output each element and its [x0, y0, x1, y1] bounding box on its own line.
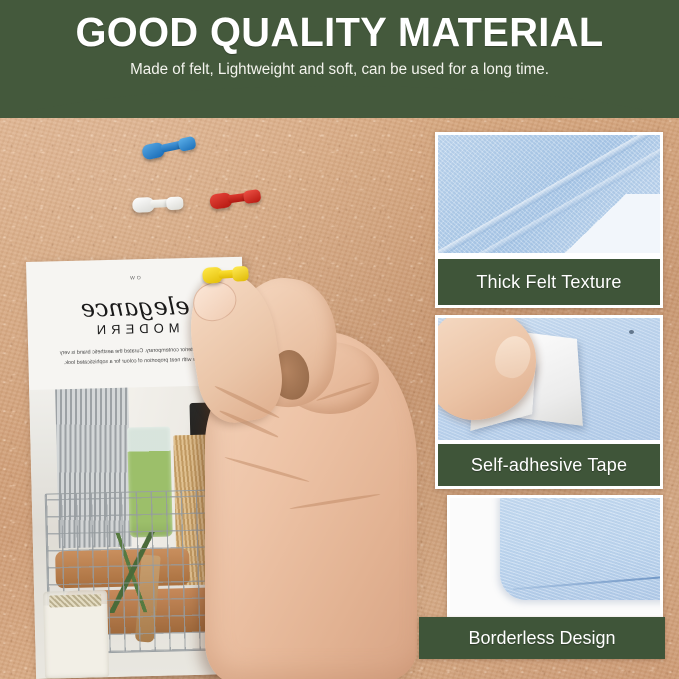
feature-card-borderless-design	[447, 495, 663, 623]
felt-speck	[629, 330, 634, 334]
thumb-nail	[187, 276, 242, 328]
feature-caption-self-adhesive-tape: Self-adhesive Tape	[438, 444, 660, 486]
product-feature-image: OW elegance MODERN Home interior contemp…	[0, 0, 679, 679]
header-banner: GOOD QUALITY MATERIAL Made of felt, Ligh…	[0, 0, 679, 118]
feature-image-self-adhesive-tape	[438, 318, 660, 440]
feature-image-borderless-design	[450, 498, 660, 614]
pin-tail	[243, 189, 262, 204]
white-surface-corner	[531, 194, 660, 253]
photo-milk-jar	[43, 590, 110, 678]
feature-card-thick-felt-texture: Thick Felt Texture	[435, 132, 663, 308]
pin-tail	[166, 196, 184, 210]
header-curve-shape	[0, 86, 679, 118]
feature-caption-thick-felt-texture: Thick Felt Texture	[438, 259, 660, 305]
feature-caption-borderless-design: Borderless Design	[419, 617, 665, 659]
pin-tail	[232, 266, 249, 282]
page-subtitle: Made of felt, Lightweight and soft, can …	[7, 61, 672, 80]
feature-card-self-adhesive-tape: Self-adhesive Tape	[435, 315, 663, 489]
page-title: GOOD QUALITY MATERIAL	[10, 11, 669, 54]
pin-tail	[177, 136, 196, 152]
feature-image-thick-felt-texture	[438, 135, 660, 253]
header-text-group: GOOD QUALITY MATERIAL Made of felt, Ligh…	[0, 0, 679, 80]
hand	[193, 272, 426, 679]
